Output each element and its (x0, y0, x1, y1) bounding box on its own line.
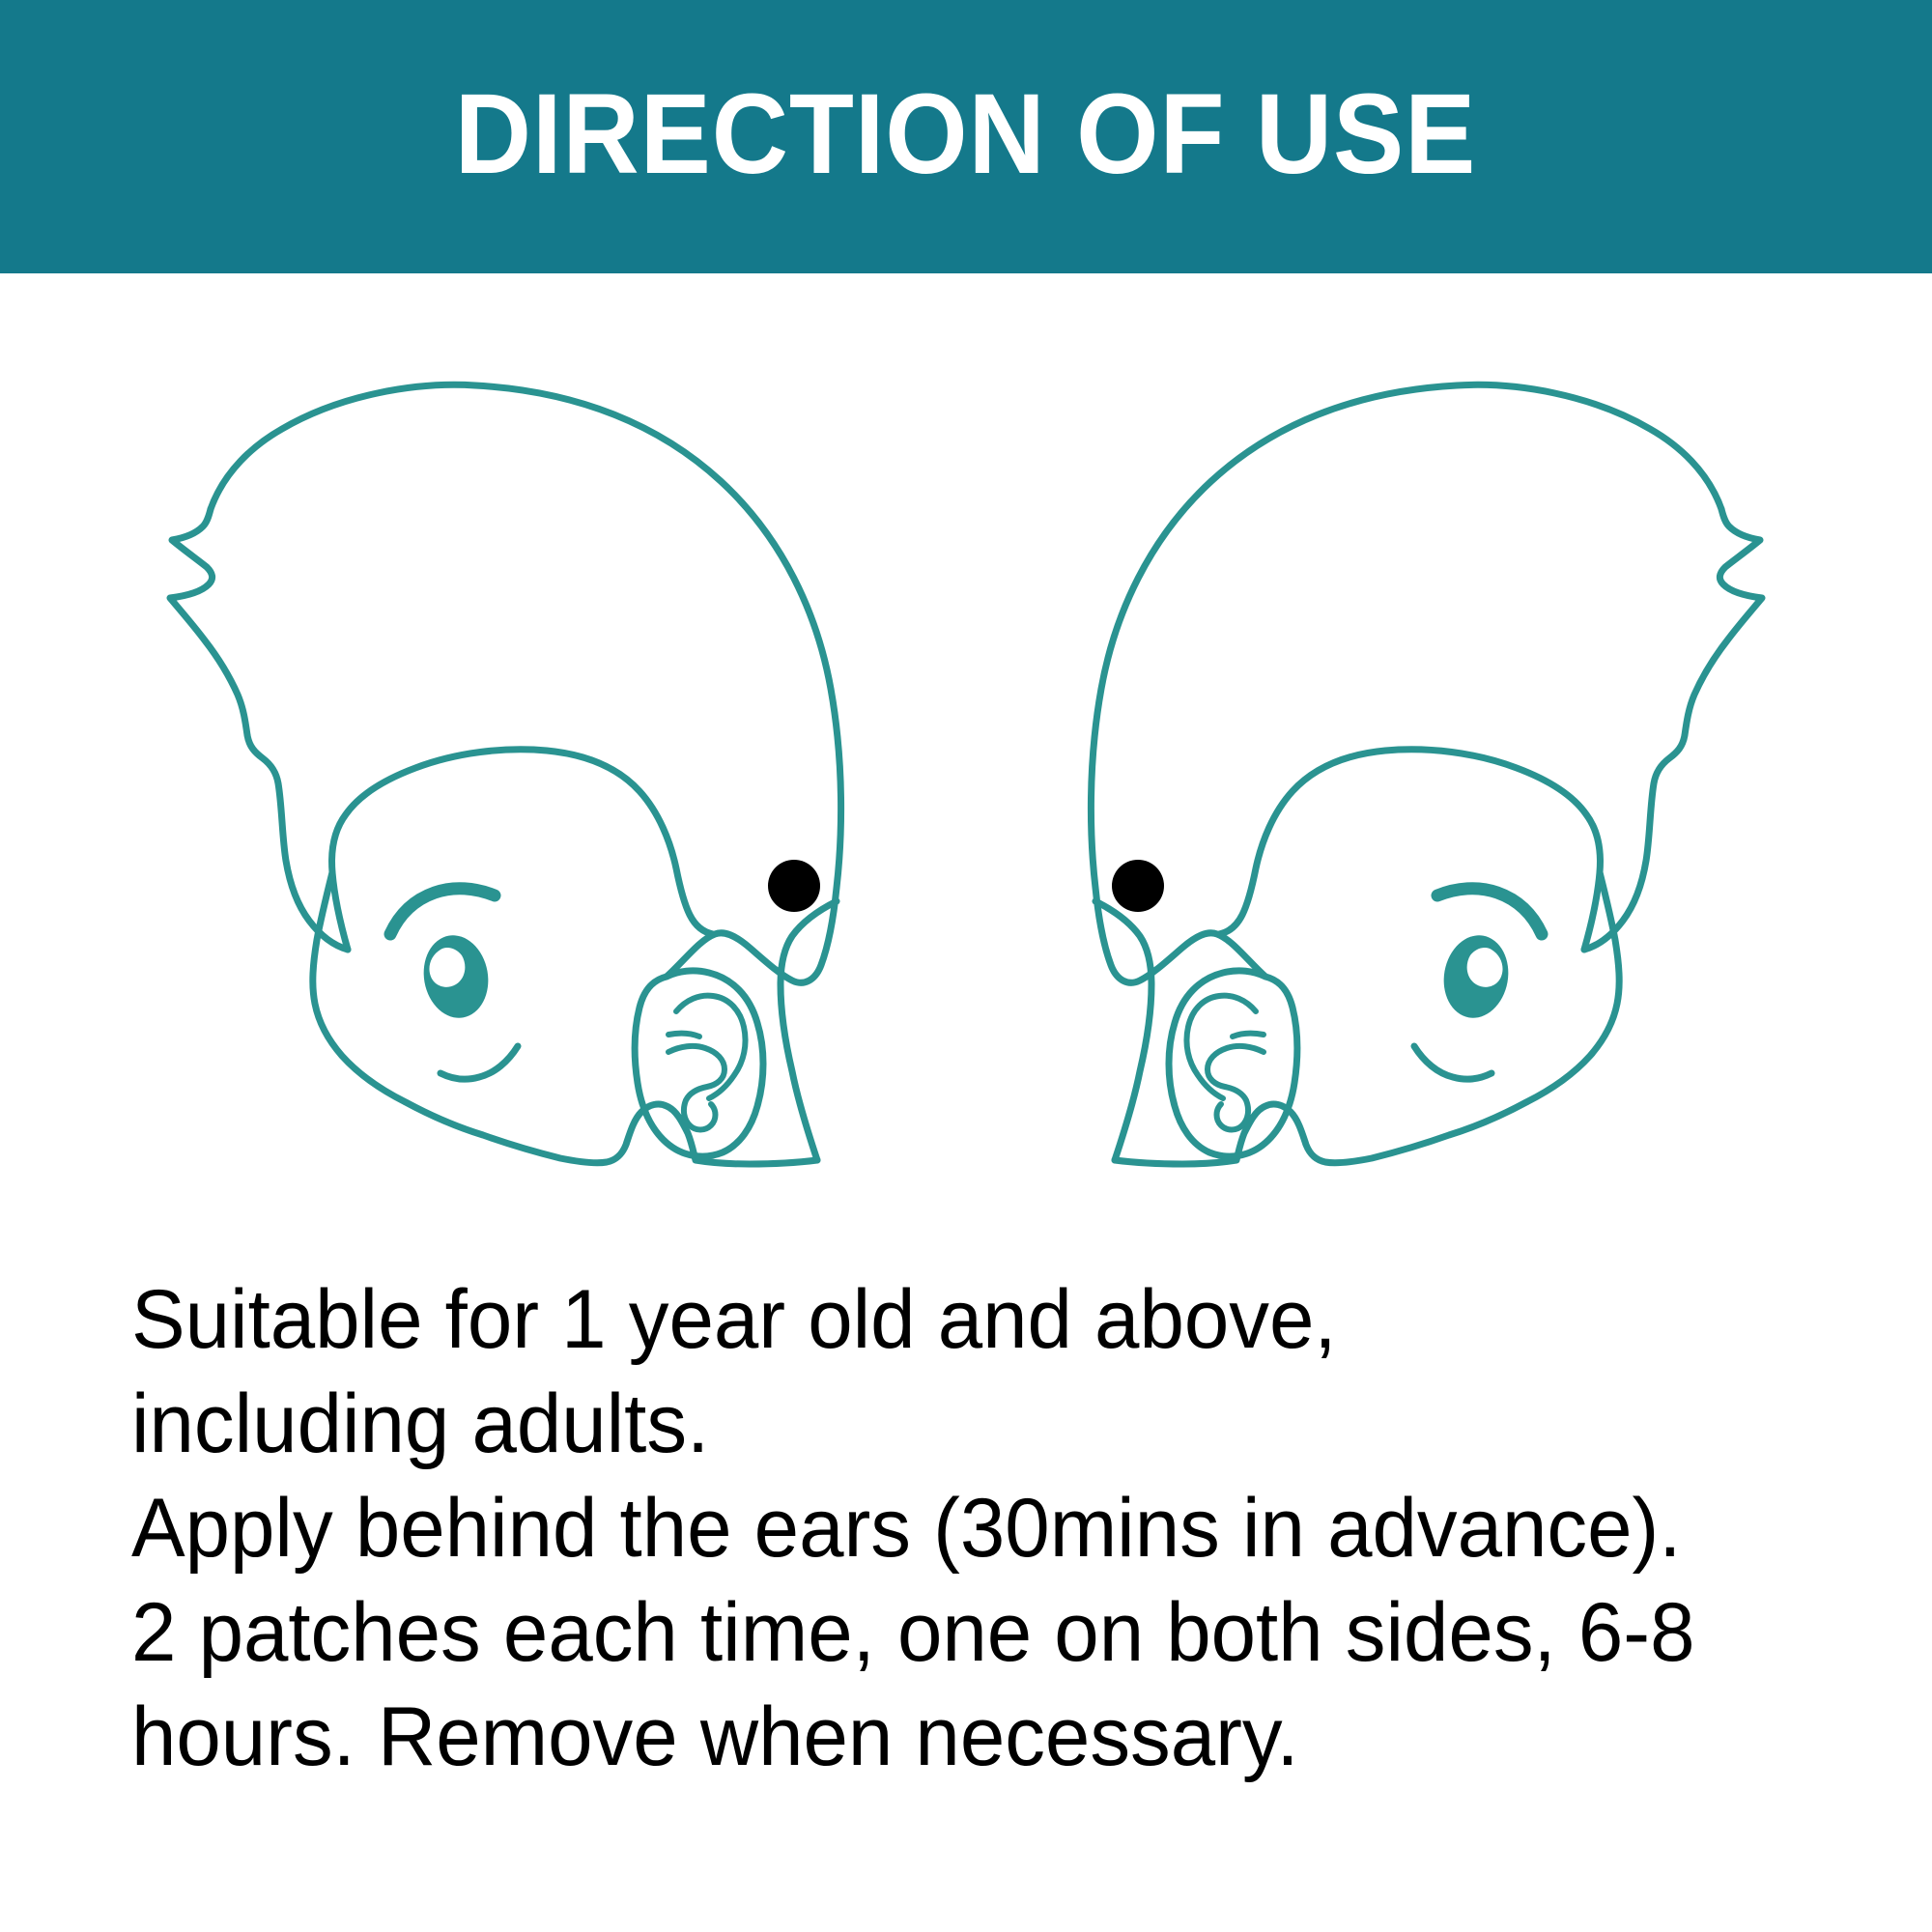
header-banner: DIRECTION OF USE (0, 0, 1932, 273)
instruction-line-5: hours. Remove when necessary. (131, 1685, 1818, 1789)
hair-silhouette (1091, 384, 1721, 982)
hair-fringe-spikes (1584, 509, 1762, 950)
eyebrow (1437, 889, 1542, 934)
instruction-line-2: including adults. (131, 1372, 1818, 1476)
mouth-line (1414, 1046, 1492, 1079)
page-title: DIRECTION OF USE (455, 77, 1476, 191)
hair-silhouette (211, 384, 841, 982)
ear (1169, 971, 1297, 1156)
patch-dot-left (768, 860, 820, 912)
eye (1437, 930, 1515, 1023)
instructions-text-block: Suitable for 1 year old and above, inclu… (131, 1267, 1870, 1789)
illustration-area (0, 273, 1932, 1239)
eyebrow (390, 889, 495, 934)
patch-dot-right (1112, 860, 1164, 912)
direction-of-use-card: DIRECTION OF USE (0, 0, 1932, 1932)
left-head-group (170, 384, 841, 1164)
hair-fringe-spikes (170, 509, 348, 950)
instruction-line-4: 2 patches each time, one on both sides, … (131, 1580, 1818, 1685)
instruction-line-3: Apply behind the ears (30mins in advance… (131, 1476, 1818, 1580)
ear-concha (668, 1034, 699, 1037)
right-head-group (1091, 384, 1762, 1164)
eye (417, 930, 495, 1023)
heads-illustration-svg (0, 273, 1932, 1239)
mouth-line (440, 1046, 518, 1079)
ear (635, 971, 763, 1156)
instruction-line-1: Suitable for 1 year old and above, (131, 1267, 1818, 1372)
face-outline (1219, 750, 1600, 950)
face-outline (332, 750, 713, 950)
ear-concha (1233, 1034, 1264, 1037)
